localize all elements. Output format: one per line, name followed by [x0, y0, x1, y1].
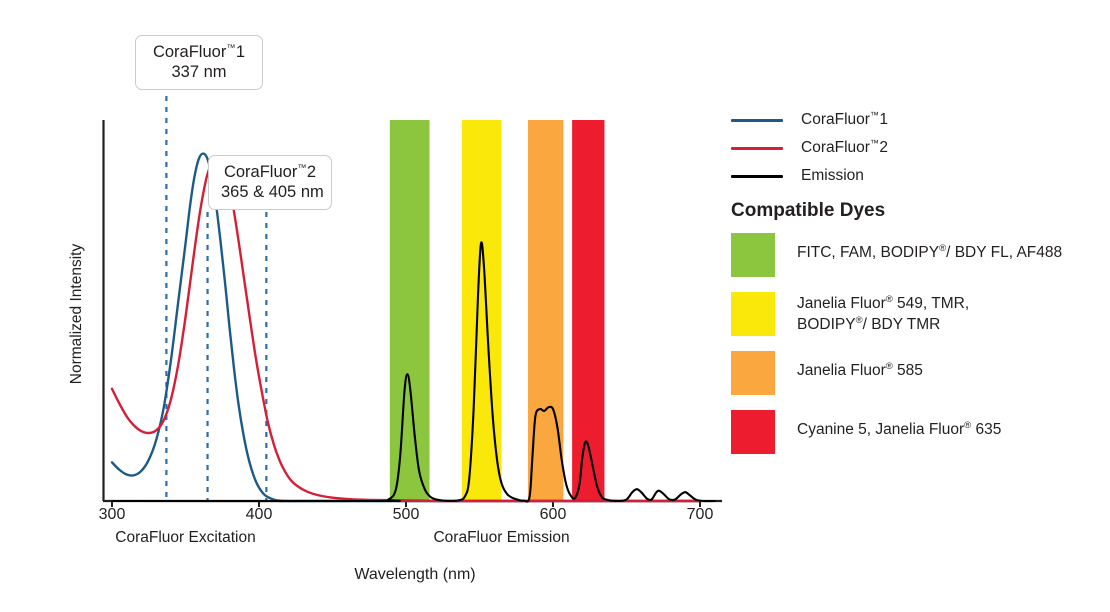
dye-item-1: Janelia Fluor® 549, TMR,BODIPY®/ BDY TMR	[731, 292, 1110, 336]
x-tick-label-300: 300	[82, 506, 142, 524]
callout-corafluor2: CoraFluor™2 365 & 405 nm	[208, 155, 332, 210]
legend-line-swatch	[731, 119, 783, 122]
dye-item-label: Janelia Fluor® 549, TMR,BODIPY®/ BDY TMR	[797, 292, 969, 335]
trademark-icon: ™	[226, 43, 236, 53]
chart-figure: CoraFluor™1 337 nm CoraFluor™2 365 & 405…	[0, 0, 1110, 612]
dye-color-swatch	[731, 292, 775, 336]
callout-corafluor1: CoraFluor™1 337 nm	[135, 35, 263, 90]
legend-item-label: Emission	[801, 167, 864, 185]
x-tick-label-700: 700	[670, 506, 730, 524]
dye-item-label: FITC, FAM, BODIPY®/ BDY FL, AF488	[797, 233, 1062, 264]
dye-color-swatch	[731, 233, 775, 277]
sublabel-excitation: CoraFluor Excitation	[86, 529, 286, 547]
green-band	[390, 120, 430, 501]
callout2-number: 2	[307, 163, 316, 181]
legend-line-swatch	[731, 147, 783, 150]
legend-line-swatch	[731, 175, 783, 178]
dye-item-label: Janelia Fluor® 585	[797, 351, 923, 382]
series-legend: CoraFluor™1CoraFluor™2Emission	[731, 106, 1101, 190]
y-axis-title: Normalized Intensity	[68, 224, 86, 404]
dye-item-2: Janelia Fluor® 585	[731, 351, 1110, 395]
dye-item-0: FITC, FAM, BODIPY®/ BDY FL, AF488	[731, 233, 1110, 277]
x-tick-label-400: 400	[229, 506, 289, 524]
trademark-icon: ™	[297, 163, 307, 173]
callout2-value: 365 & 405 nm	[221, 182, 319, 202]
callout1-value: 337 nm	[148, 62, 250, 82]
dye-color-swatch	[731, 410, 775, 454]
bands-group	[390, 120, 605, 501]
callout2-name: CoraFluor	[224, 163, 297, 181]
compatible-dyes-list: FITC, FAM, BODIPY®/ BDY FL, AF488Janelia…	[731, 233, 1110, 469]
x-tick-label-500: 500	[376, 506, 436, 524]
dye-item-3: Cyanine 5, Janelia Fluor® 635	[731, 410, 1110, 454]
dye-color-swatch	[731, 351, 775, 395]
compatible-dyes-title: Compatible Dyes	[731, 200, 885, 222]
callout1-number: 1	[236, 43, 245, 61]
legend-item-2: Emission	[731, 162, 1101, 190]
legend-item-label: CoraFluor™1	[801, 110, 888, 129]
dye-item-label: Cyanine 5, Janelia Fluor® 635	[797, 410, 1001, 441]
x-axis-title: Wavelength (nm)	[0, 566, 830, 584]
legend-item-label: CoraFluor™2	[801, 138, 888, 157]
callout1-name: CoraFluor	[153, 43, 226, 61]
legend-item-0: CoraFluor™1	[731, 106, 1101, 134]
x-tick-label-600: 600	[523, 506, 583, 524]
sublabel-emission: CoraFluor Emission	[402, 529, 602, 547]
legend-item-1: CoraFluor™2	[731, 134, 1101, 162]
